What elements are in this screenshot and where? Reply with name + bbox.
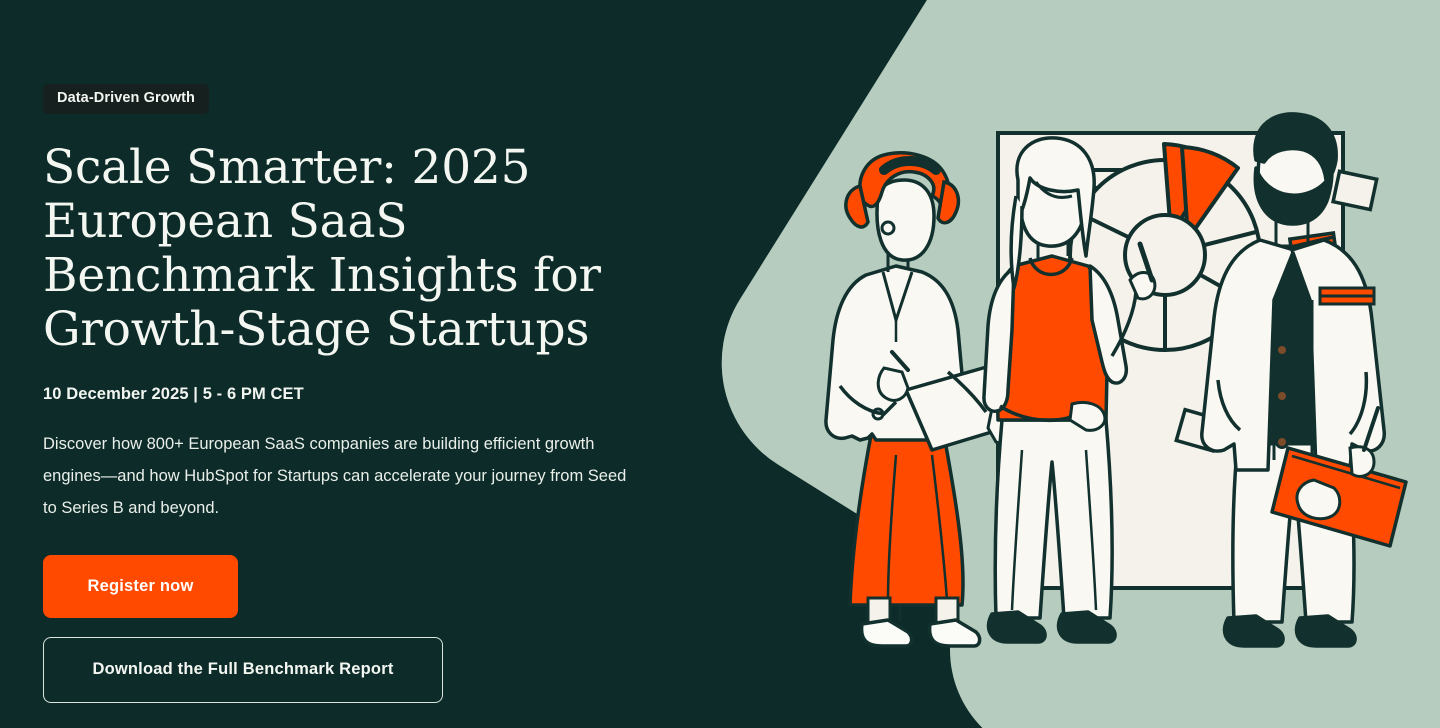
page-title: Scale Smarter: 2025 European SaaS Benchm…: [43, 141, 668, 357]
illustration-artwork: [700, 0, 1440, 728]
hero-content: Data-Driven Growth Scale Smarter: 2025 E…: [43, 0, 683, 728]
hero-banner: Data-Driven Growth Scale Smarter: 2025 E…: [0, 0, 1440, 728]
illustration-panel: [700, 0, 1440, 728]
download-report-button[interactable]: Download the Full Benchmark Report: [43, 637, 443, 703]
cta-group: Register now Download the Full Benchmark…: [43, 555, 683, 703]
eyebrow-badge: Data-Driven Growth: [43, 84, 209, 114]
register-now-button[interactable]: Register now: [43, 555, 238, 618]
event-datetime: 10 December 2025 | 5 - 6 PM CET: [43, 385, 683, 404]
hero-description: Discover how 800+ European SaaS companie…: [43, 428, 633, 524]
